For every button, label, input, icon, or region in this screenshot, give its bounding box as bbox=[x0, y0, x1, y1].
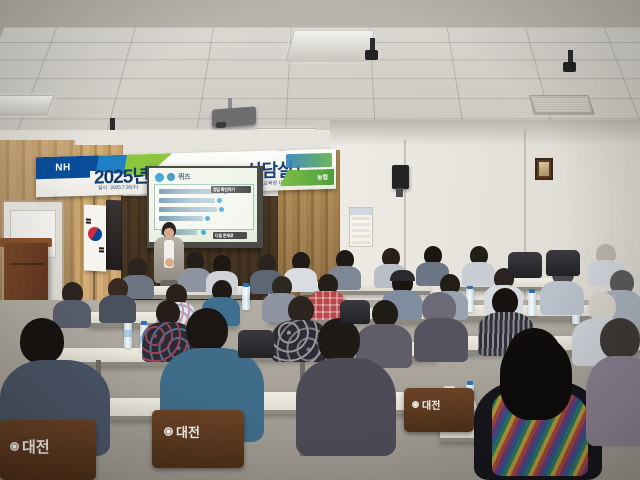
hanging-lamp bbox=[365, 50, 378, 60]
korean-flag bbox=[84, 204, 106, 271]
calendar-grid bbox=[352, 217, 370, 244]
banner-subtitle-left: 일시 : 2025.7.16(수) bbox=[98, 183, 138, 191]
water-bottle bbox=[242, 286, 250, 310]
wall-calendar bbox=[349, 207, 373, 247]
chair-print: 대전 bbox=[412, 397, 440, 412]
stacking-chair[interactable] bbox=[238, 330, 274, 358]
attendee-body bbox=[53, 300, 91, 328]
banner-green-bar-text: 농협 bbox=[317, 172, 328, 181]
bottle-cap bbox=[141, 321, 147, 325]
attendee-head bbox=[588, 292, 616, 321]
bottle-cap bbox=[529, 289, 535, 293]
bottle-cap bbox=[243, 283, 249, 287]
water-bottle bbox=[528, 292, 536, 316]
attendee-head bbox=[186, 308, 228, 352]
attendee-head bbox=[600, 318, 640, 360]
wall-speaker bbox=[392, 165, 409, 189]
wooden-chair[interactable]: 대전 bbox=[0, 420, 96, 480]
banner-logo-right bbox=[286, 153, 332, 168]
attendee-body bbox=[414, 318, 468, 362]
presenter-hands bbox=[165, 258, 174, 267]
attendee-hair bbox=[500, 336, 572, 420]
ceiling-light bbox=[0, 95, 54, 116]
framed-picture bbox=[535, 158, 553, 180]
stacking-chair[interactable] bbox=[508, 252, 542, 278]
attendee-head bbox=[492, 288, 518, 315]
ceiling-light bbox=[285, 30, 374, 61]
wooden-chair[interactable]: 대전 bbox=[404, 388, 474, 432]
podium-trim bbox=[10, 263, 44, 265]
stacking-chair[interactable] bbox=[340, 300, 370, 324]
attendee-body bbox=[540, 281, 584, 315]
photo-scene: NH 2025년 일시 : 2025.7.16(수) 상담실」 장소 : 교육장… bbox=[0, 0, 640, 480]
taegeuk-symbol bbox=[88, 227, 102, 242]
attendee-body bbox=[99, 295, 136, 323]
chair-print: 대전 bbox=[164, 422, 200, 441]
speaker-bracket bbox=[396, 188, 403, 197]
attendee-body bbox=[586, 356, 640, 446]
attendee-head bbox=[20, 318, 64, 364]
flower-icon bbox=[412, 401, 419, 408]
attendee-head bbox=[288, 296, 314, 323]
wall-shadow bbox=[330, 120, 640, 146]
air-vent bbox=[529, 95, 594, 114]
nh-logo-text: NH bbox=[55, 162, 70, 173]
wall-seam bbox=[524, 130, 526, 320]
chair-print-text: 대전 bbox=[176, 422, 200, 441]
flower-icon bbox=[10, 442, 19, 451]
ceiling-projector bbox=[212, 106, 256, 127]
stacking-chair[interactable] bbox=[546, 250, 580, 276]
flower-icon bbox=[164, 427, 173, 436]
bottle-cap bbox=[467, 381, 473, 385]
nh-logo: NH bbox=[36, 156, 90, 180]
attendee-head bbox=[318, 318, 360, 362]
attendee-body bbox=[296, 358, 396, 456]
attendee-body bbox=[462, 262, 495, 286]
secondary-flag bbox=[106, 199, 122, 270]
hanging-lamp bbox=[563, 62, 576, 72]
chair-print: 대전 bbox=[10, 436, 50, 457]
bottle-label bbox=[124, 330, 132, 337]
cap-icon bbox=[390, 270, 415, 281]
wooden-chair[interactable]: 대전 bbox=[152, 410, 244, 468]
calendar-header bbox=[350, 208, 372, 215]
chair-print-text: 대전 bbox=[22, 436, 50, 457]
chair-print-text: 대전 bbox=[422, 397, 440, 412]
attendee-head bbox=[372, 300, 398, 327]
